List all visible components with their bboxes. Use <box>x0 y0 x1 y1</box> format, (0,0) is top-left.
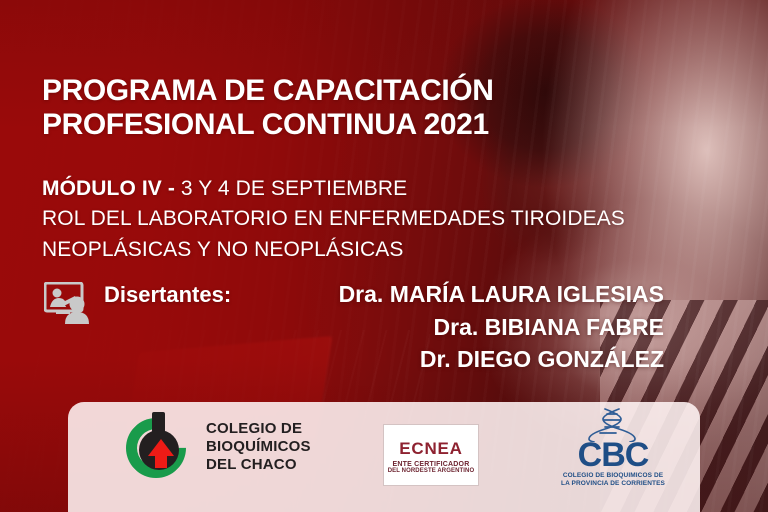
speakers-names: Dra. MARÍA LAURA IGLESIAS Dra. BIBIANA F… <box>339 278 664 376</box>
chaco-text-line-3: DEL CHACO <box>206 456 311 474</box>
poster-content: PROGRAMA DE CAPACITACIÓN PROFESIONAL CON… <box>0 0 768 512</box>
cbc-subtitle: COLEGIO DE BIOQUIMICOS DE LA PROVINCIA D… <box>561 472 665 488</box>
promotional-poster: PROGRAMA DE CAPACITACIÓN PROFESIONAL CON… <box>0 0 768 512</box>
chaco-bc-monogram-icon <box>124 412 194 482</box>
topic-line-2: NEOPLÁSICAS Y NO NEOPLÁSICAS <box>42 235 625 265</box>
logo-colegio-bioquimicos-chaco: COLEGIO DE BIOQUÍMICOS DEL CHACO <box>124 412 311 482</box>
speaker-name: Dr. DIEGO GONZÁLEZ <box>339 343 664 376</box>
title-line-2: PROFESIONAL CONTINUA 2021 <box>42 108 494 142</box>
logo-ecnea: ECNEA ENTE CERTIFICADOR DEL NORDESTE ARG… <box>383 424 479 486</box>
topic-line-1: ROL DEL LABORATORIO EN ENFERMEDADES TIRO… <box>42 204 625 234</box>
poster-subtitle: MÓDULO IV - 3 Y 4 DE SEPTIEMBRE ROL DEL … <box>42 174 625 265</box>
chaco-text-line-1: COLEGIO DE <box>206 420 311 438</box>
poster-title: PROGRAMA DE CAPACITACIÓN PROFESIONAL CON… <box>42 74 494 141</box>
module-label: MÓDULO IV - <box>42 177 175 200</box>
speakers-row: Disertantes: Dra. MARÍA LAURA IGLESIAS D… <box>44 278 664 376</box>
ecnea-subtitle-1: ENTE CERTIFICADOR <box>393 461 470 468</box>
cbc-acronym: CBC <box>578 440 649 471</box>
speaker-name: Dra. MARÍA LAURA IGLESIAS <box>339 278 664 311</box>
cbc-subtitle-line-2: LA PROVINCIA DE CORRIENTES <box>561 480 665 488</box>
presenter-icon <box>44 282 96 324</box>
module-line: MÓDULO IV - 3 Y 4 DE SEPTIEMBRE <box>42 174 625 204</box>
chaco-text-line-2: BIOQUÍMICOS <box>206 438 311 456</box>
module-dates: 3 Y 4 DE SEPTIEMBRE <box>175 177 407 200</box>
speaker-name: Dra. BIBIANA FABRE <box>339 311 664 344</box>
ecnea-acronym: ECNEA <box>399 439 463 459</box>
chaco-logo-text: COLEGIO DE BIOQUÍMICOS DEL CHACO <box>206 420 311 474</box>
logo-cbc-corrientes: CBC COLEGIO DE BIOQUIMICOS DE LA PROVINC… <box>538 408 688 489</box>
speakers-label: Disertantes: <box>104 282 231 308</box>
speakers-section: Disertantes: Dra. MARÍA LAURA IGLESIAS D… <box>44 278 664 376</box>
ecnea-box: ECNEA ENTE CERTIFICADOR DEL NORDESTE ARG… <box>383 424 479 486</box>
ecnea-subtitle-2: DEL NORDESTE ARGENTINO <box>388 468 475 474</box>
title-line-1: PROGRAMA DE CAPACITACIÓN <box>42 74 494 107</box>
footer-logo-bar: COLEGIO DE BIOQUÍMICOS DEL CHACO ECNEA E… <box>68 402 700 512</box>
cbc-subtitle-line-1: COLEGIO DE BIOQUIMICOS DE <box>561 472 665 480</box>
